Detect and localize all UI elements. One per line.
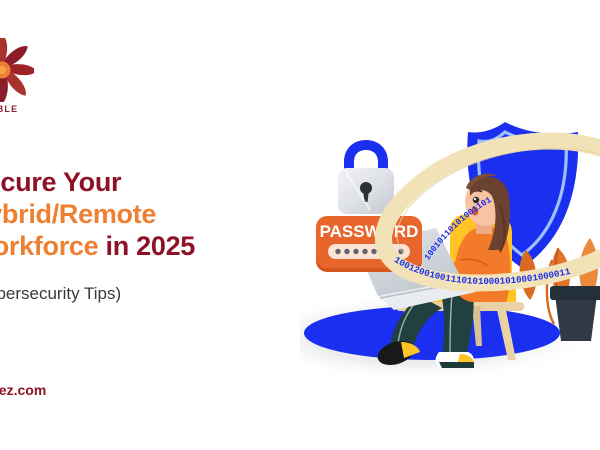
headline-hybrid: Hybrid	[0, 199, 52, 229]
remote-worker-cybersecurity-illustration: PASSWORD 10010110101001101	[300, 110, 600, 380]
headline-workforce: Workforce	[0, 231, 98, 261]
site-url[interactable]: yaarez.com	[0, 382, 46, 398]
logo-wordmark: S VISIBLE	[0, 104, 18, 114]
banner-canvas: S VISIBLE Secure Your Hybrid/Remote Work…	[0, 0, 600, 450]
sunburst-logo-icon	[0, 38, 34, 102]
password-label: PASSWORD	[320, 222, 419, 241]
headline-line-1-text: Secure Your	[0, 167, 121, 197]
headline-line-1: Secure Your	[0, 166, 298, 198]
padlock-icon	[338, 140, 394, 214]
headline-line-2: Hybrid/Remote	[0, 198, 298, 230]
headline-subline: (Cybersecurity Tips)	[0, 284, 121, 304]
headline-line-3: Workforce in 2025	[0, 230, 298, 262]
logo[interactable]: S VISIBLE	[0, 38, 80, 133]
headline-group: Secure Your Hybrid/Remote Workforce in 2…	[0, 166, 298, 262]
headline-year: in 2025	[106, 231, 195, 261]
headline-remote: Remote	[59, 199, 156, 229]
headline-slash: /	[52, 199, 59, 229]
